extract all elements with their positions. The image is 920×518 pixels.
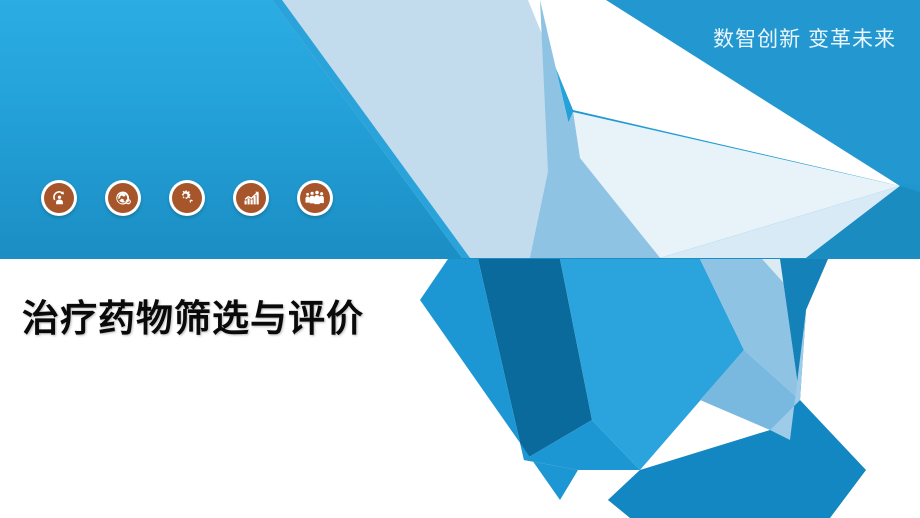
icon-badge-globe-gear[interactable] <box>105 180 141 216</box>
icon-row <box>41 180 333 216</box>
people-group-icon <box>300 183 330 213</box>
page-title: 治疗药物筛选与评价 <box>22 297 364 341</box>
gears-icon <box>172 183 202 213</box>
icon-badge-bar-chart[interactable] <box>233 180 269 216</box>
icon-badge-people-group[interactable] <box>297 180 333 216</box>
icon-badge-gears[interactable] <box>169 180 205 216</box>
poly-ramp-2 <box>608 470 640 518</box>
icon-badge-growth-person[interactable] <box>41 180 77 216</box>
tagline-text: 数智创新 变革未来 <box>713 29 896 50</box>
globe-gear-icon <box>108 183 138 213</box>
growth-person-icon <box>44 183 74 213</box>
bar-chart-icon <box>236 183 266 213</box>
slide-canvas: 数智创新 变革未来 <box>0 0 920 518</box>
low-poly-artwork <box>0 0 920 518</box>
